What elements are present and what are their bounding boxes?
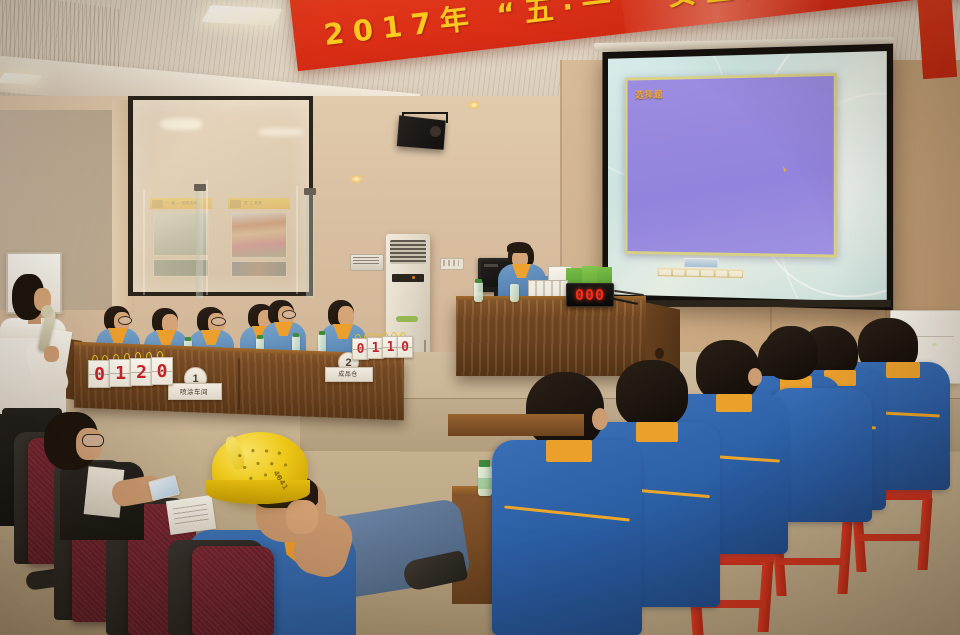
glass-edge [206,180,208,295]
timer-value: 000 [575,286,605,304]
score-digit-team1[interactable]: 0 [88,360,111,388]
bottle-cap [475,279,482,283]
audience-head [616,360,688,428]
uniform-collar [636,422,678,442]
worker-hand [286,500,318,534]
glass-edge [143,190,145,295]
cabinet-led-icon [932,343,937,346]
wall-switch-detail [443,260,459,266]
downlight-icon [468,101,480,109]
projection-screen[interactable]: 选择题 [602,44,893,311]
stool-rail [776,558,846,565]
air-conditioner-grille [390,240,426,264]
slide-title: 选择题 [635,88,663,101]
air-conditioner-led-icon [412,276,415,279]
toolbar-button[interactable] [715,270,727,276]
score-digit-team1[interactable]: 2 [130,358,153,386]
glass-mullion [196,186,203,298]
glass-glare [258,128,304,136]
stool-rail [856,534,926,541]
slide-toolbar [657,267,744,279]
wood-rail [448,414,584,436]
uniform-collar [546,440,592,462]
score-digit-team2[interactable]: 0 [397,336,413,358]
team-name-label-2: 成品仓 [325,367,371,380]
bottle-cap [293,333,299,337]
hard-hat-vent-holes [234,441,300,491]
toolbar-button[interactable] [730,271,742,277]
toolbar-button[interactable] [687,270,699,276]
bottle-cap [479,460,490,467]
glasses-icon [82,434,104,447]
led-timer-display: 000 [566,283,614,307]
uniform-collar [716,394,752,412]
toolbar-button[interactable] [673,270,685,276]
audience-head [764,326,818,380]
glasses-icon [282,310,296,319]
monitor-logo [484,264,498,267]
contestant-face [338,306,354,326]
slide-content-area: 选择题 [625,73,837,258]
team-name-label-1: 喷涂车间 [168,383,220,398]
uniform-collar [886,362,920,378]
glass-clamp [194,184,206,191]
glasses-icon [118,316,132,325]
seat-texture [192,546,274,635]
cursor-icon [783,166,787,173]
audience-head [526,372,604,448]
air-conditioner-logo [396,316,418,322]
banner-tail [917,0,957,79]
water-bottle [474,282,483,302]
desk-seam [238,358,240,410]
speaker-cone-icon [430,126,441,137]
score-digit-team1[interactable]: 1 [109,359,132,387]
downlight-icon [350,175,363,183]
bottle-cap [319,331,325,335]
toolbar-button[interactable] [659,269,671,275]
glass-glare [160,118,202,130]
glass-partition-window [128,96,313,296]
glasses-icon [211,317,226,326]
toolbar-button[interactable] [701,270,713,276]
score-digit-team1[interactable]: 0 [151,357,173,385]
water-bottle [510,284,519,302]
auditorium-scene: 一 级 — 班组活动 员 工 风采 2017年 “五·一” 安全知 选择 [0,0,960,635]
podium-wood-grain [456,300,646,376]
host-hair [507,242,531,253]
audience-ear [748,368,762,386]
audience-uniform [492,440,642,635]
wall-vent-louvers [353,257,379,266]
audience-ear [592,408,608,430]
projection-surface: 选择题 [608,51,887,302]
bottle-label [478,478,492,489]
presenter-hand [44,346,59,362]
glass-clamp [304,188,316,195]
air-conditioner-display [392,274,424,282]
bottle-cap [257,335,263,339]
glass-edge [296,186,298,294]
glass-mullion [306,190,314,298]
podium-knob [655,348,664,359]
bottle-cap [185,337,191,341]
